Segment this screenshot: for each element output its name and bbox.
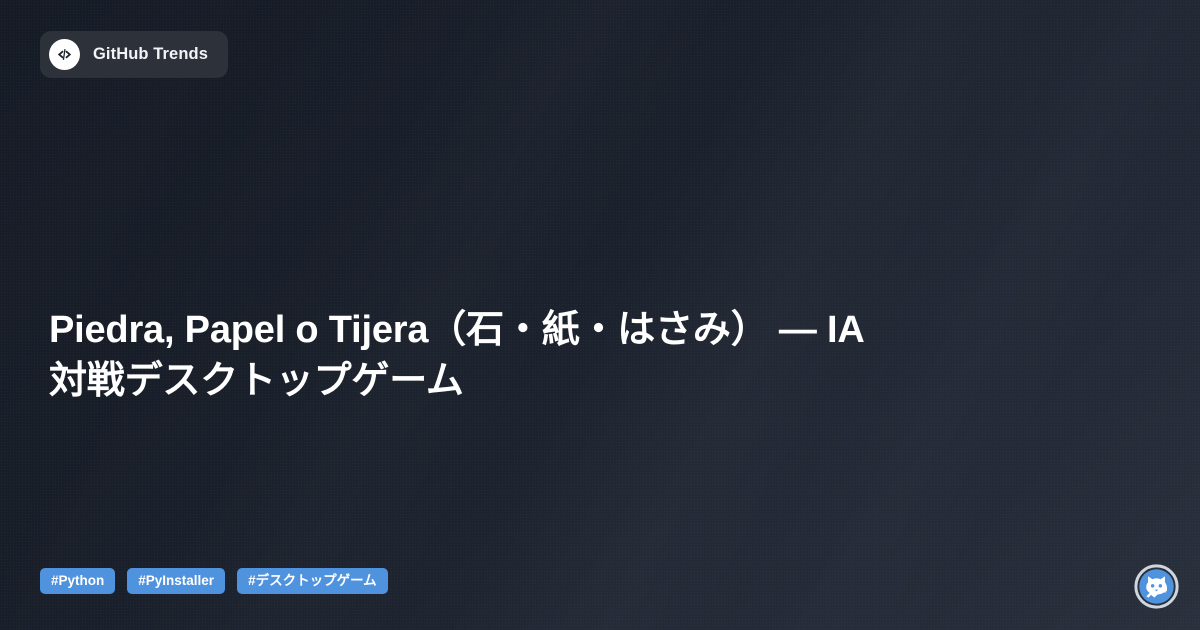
code-brackets-icon bbox=[49, 39, 80, 70]
brand-badge[interactable]: GitHub Trends bbox=[40, 31, 228, 78]
tag-python[interactable]: #Python bbox=[40, 568, 115, 595]
page-title: Piedra, Papel o Tijera（石・紙・はさみ） — IA 対戦デ… bbox=[49, 305, 949, 406]
tag-desktop-game[interactable]: #デスクトップゲーム bbox=[237, 568, 388, 595]
cat-trend-logo-icon bbox=[1134, 564, 1179, 609]
social-preview-card: GitHub Trends Piedra, Papel o Tijera（石・紙… bbox=[0, 0, 1200, 630]
tag-list: #Python #PyInstaller #デスクトップゲーム bbox=[40, 568, 388, 595]
brand-name-label: GitHub Trends bbox=[93, 45, 208, 64]
tag-pyinstaller[interactable]: #PyInstaller bbox=[127, 568, 225, 595]
